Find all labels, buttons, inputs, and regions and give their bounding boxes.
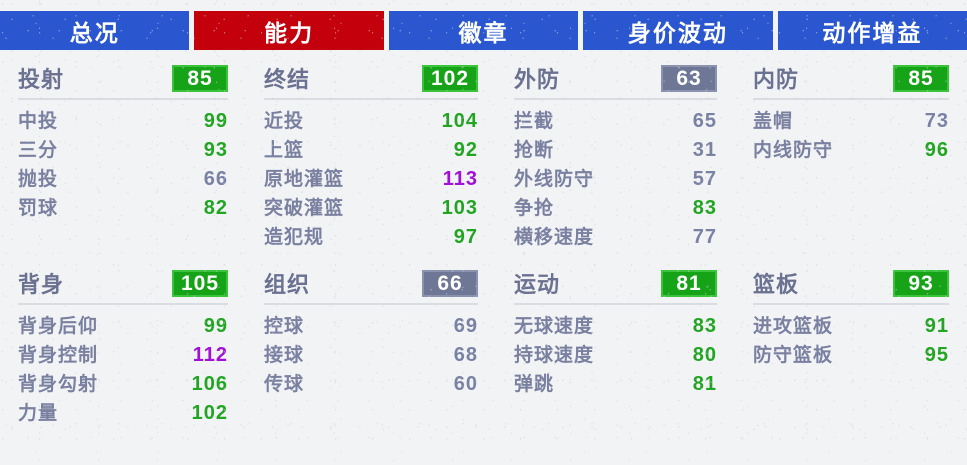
stat-value: 60 — [454, 373, 478, 396]
divider — [514, 98, 717, 100]
stat-group-title: 终结 — [264, 62, 310, 94]
stat-group-title: 运动 — [514, 267, 560, 299]
stat-row: 传球60 — [264, 369, 478, 398]
stat-label: 拦截 — [514, 106, 554, 133]
stat-group-rating-badge: 85 — [172, 65, 228, 92]
divider — [514, 303, 717, 305]
stat-group-title: 投射 — [18, 62, 64, 94]
stat-value: 102 — [192, 402, 228, 425]
stat-value: 65 — [693, 110, 717, 133]
stat-label: 背身控制 — [18, 340, 98, 367]
stat-group-header: 终结102 — [264, 61, 478, 95]
stat-value: 82 — [204, 197, 228, 220]
stat-value: 91 — [925, 315, 949, 338]
stat-row: 背身控制112 — [18, 340, 228, 369]
tab-label: 身价波动 — [628, 14, 728, 48]
stat-group-header: 篮板93 — [753, 266, 949, 300]
stat-row: 拦截65 — [514, 106, 717, 135]
stat-value: 77 — [693, 226, 717, 249]
stat-value: 81 — [693, 373, 717, 396]
stat-label: 抢断 — [514, 135, 554, 162]
divider — [753, 303, 949, 305]
divider — [753, 98, 949, 100]
stat-group: 篮板93进攻篮板91防守篮板95 — [735, 260, 967, 460]
tab-label: 总况 — [70, 14, 120, 48]
stat-group: 外防63拦截65抢断31外线防守57争抢83横移速度77 — [496, 55, 735, 260]
tab-1[interactable]: 总况 — [0, 11, 189, 50]
stat-value: 96 — [925, 139, 949, 162]
stat-row: 上篮92 — [264, 135, 478, 164]
stat-row: 控球69 — [264, 311, 478, 340]
stat-label: 进攻篮板 — [753, 311, 833, 338]
stat-value: 69 — [454, 315, 478, 338]
stat-value: 99 — [204, 110, 228, 133]
stat-row: 弹跳81 — [514, 369, 717, 398]
tab-4[interactable]: 身价波动 — [583, 11, 772, 50]
stat-group-header: 投射85 — [18, 61, 228, 95]
stat-group-title: 篮板 — [753, 267, 799, 299]
stat-row: 近投104 — [264, 106, 478, 135]
stat-group-rating-badge: 93 — [893, 270, 949, 297]
stat-group-header: 背身105 — [18, 266, 228, 300]
tab-bar: 总况能力徽章身价波动动作增益 — [0, 11, 967, 50]
stat-group: 背身105背身后仰99背身控制112背身勾射106力量102 — [0, 260, 246, 460]
stat-row: 力量102 — [18, 398, 228, 427]
attributes-grid: 投射85中投99三分93抛投66罚球82终结102近投104上篮92原地灌篮11… — [0, 55, 967, 460]
stat-label: 原地灌篮 — [264, 164, 344, 191]
stat-value: 99 — [204, 315, 228, 338]
stat-group: 内防85盖帽73内线防守96 — [735, 55, 967, 260]
stat-label: 传球 — [264, 369, 304, 396]
stat-label: 造犯规 — [264, 222, 324, 249]
stat-value: 97 — [454, 226, 478, 249]
stat-row: 抛投66 — [18, 164, 228, 193]
stat-label: 罚球 — [18, 193, 58, 220]
tab-label: 徽章 — [459, 14, 509, 48]
stat-value: 66 — [204, 168, 228, 191]
tab-2[interactable]: 能力 — [194, 11, 383, 50]
stat-label: 弹跳 — [514, 369, 554, 396]
tab-label: 能力 — [264, 14, 314, 48]
stat-value: 103 — [442, 197, 478, 220]
stat-group-rating-badge: 81 — [661, 270, 717, 297]
stat-value: 95 — [925, 344, 949, 367]
stat-group-title: 外防 — [514, 62, 560, 94]
stat-group-header: 组织66 — [264, 266, 478, 300]
stat-value: 31 — [693, 139, 717, 162]
tab-3[interactable]: 徽章 — [389, 11, 578, 50]
stat-label: 上篮 — [264, 135, 304, 162]
stat-group: 运动81无球速度83持球速度80弹跳81 — [496, 260, 735, 460]
stat-row: 无球速度83 — [514, 311, 717, 340]
tab-5[interactable]: 动作增益 — [778, 11, 967, 50]
stat-row: 外线防守57 — [514, 164, 717, 193]
stat-group-rating-badge: 102 — [422, 65, 478, 92]
stat-value: 93 — [204, 139, 228, 162]
stat-value: 80 — [693, 344, 717, 367]
stat-value: 73 — [925, 110, 949, 133]
stat-row: 内线防守96 — [753, 135, 949, 164]
stat-row: 盖帽73 — [753, 106, 949, 135]
stat-label: 争抢 — [514, 193, 554, 220]
tab-label: 动作增益 — [822, 14, 922, 48]
stat-row: 罚球82 — [18, 193, 228, 222]
stat-row: 争抢83 — [514, 193, 717, 222]
stat-label: 中投 — [18, 106, 58, 133]
stat-group: 终结102近投104上篮92原地灌篮113突破灌篮103造犯规97 — [246, 55, 496, 260]
stat-value: 106 — [192, 373, 228, 396]
stat-group-header: 运动81 — [514, 266, 717, 300]
stat-label: 力量 — [18, 398, 58, 425]
divider — [18, 303, 228, 305]
stat-group-rating-badge: 105 — [172, 270, 228, 297]
stat-label: 控球 — [264, 311, 304, 338]
stat-group-header: 外防63 — [514, 61, 717, 95]
stat-label: 三分 — [18, 135, 58, 162]
stat-row: 造犯规97 — [264, 222, 478, 251]
stat-row: 原地灌篮113 — [264, 164, 478, 193]
stat-value: 57 — [693, 168, 717, 191]
stat-label: 防守篮板 — [753, 340, 833, 367]
stat-label: 内线防守 — [753, 135, 833, 162]
divider — [264, 303, 478, 305]
stat-row: 抢断31 — [514, 135, 717, 164]
stat-label: 背身勾射 — [18, 369, 98, 396]
stat-row: 突破灌篮103 — [264, 193, 478, 222]
stat-value: 83 — [693, 315, 717, 338]
stat-label: 背身后仰 — [18, 311, 98, 338]
stat-row: 横移速度77 — [514, 222, 717, 251]
stat-row: 持球速度80 — [514, 340, 717, 369]
stat-label: 持球速度 — [514, 340, 594, 367]
stat-value: 83 — [693, 197, 717, 220]
stat-group: 投射85中投99三分93抛投66罚球82 — [0, 55, 246, 260]
stat-row: 三分93 — [18, 135, 228, 164]
stat-group-title: 背身 — [18, 267, 64, 299]
stat-row: 防守篮板95 — [753, 340, 949, 369]
stat-row: 接球68 — [264, 340, 478, 369]
stat-value: 68 — [454, 344, 478, 367]
stat-row: 背身后仰99 — [18, 311, 228, 340]
stat-value: 104 — [442, 110, 478, 133]
stat-label: 接球 — [264, 340, 304, 367]
stat-value: 113 — [443, 168, 478, 191]
stat-group-rating-badge: 66 — [422, 270, 478, 297]
stat-label: 突破灌篮 — [264, 193, 344, 220]
stat-value: 112 — [193, 344, 228, 367]
stat-group-header: 内防85 — [753, 61, 949, 95]
stat-label: 抛投 — [18, 164, 58, 191]
stat-label: 盖帽 — [753, 106, 793, 133]
stat-row: 背身勾射106 — [18, 369, 228, 398]
divider — [18, 98, 228, 100]
stat-group-title: 内防 — [753, 62, 799, 94]
stat-label: 横移速度 — [514, 222, 594, 249]
stat-group-rating-badge: 85 — [893, 65, 949, 92]
stat-group-rating-badge: 63 — [661, 65, 717, 92]
stat-value: 92 — [454, 139, 478, 162]
stat-label: 无球速度 — [514, 311, 594, 338]
stat-group-title: 组织 — [264, 267, 310, 299]
stat-group: 组织66控球69接球68传球60 — [246, 260, 496, 460]
stat-label: 近投 — [264, 106, 304, 133]
divider — [264, 98, 478, 100]
stat-row: 中投99 — [18, 106, 228, 135]
stat-label: 外线防守 — [514, 164, 594, 191]
stat-row: 进攻篮板91 — [753, 311, 949, 340]
